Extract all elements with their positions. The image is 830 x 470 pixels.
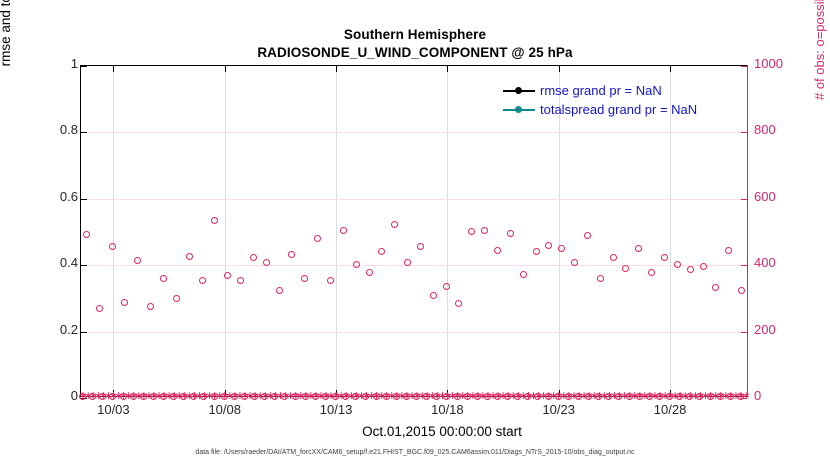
y-axis-tick-label-left: 0 xyxy=(18,388,78,403)
obs-possible-marker xyxy=(610,254,617,261)
filled-circle-marker-icon xyxy=(515,87,522,94)
figure-canvas: Southern Hemisphere RADIOSONDE_U_WIND_CO… xyxy=(0,0,830,470)
obs-possible-marker xyxy=(134,257,141,264)
obs-possible-marker xyxy=(738,287,745,294)
legend-label-totalspread: totalspread grand pr = NaN xyxy=(540,102,697,117)
obs-possible-marker xyxy=(340,227,347,234)
x-axis-tick-top xyxy=(336,66,337,72)
obs-possible-marker xyxy=(430,292,437,299)
left-axis-title: rmse and totalspread xyxy=(0,0,13,118)
obs-possible-marker xyxy=(366,269,373,276)
y-axis-tick-left xyxy=(81,199,87,200)
y-axis-tick-label-right: 0 xyxy=(754,388,814,403)
obs-possible-marker xyxy=(186,253,193,260)
y-gridline xyxy=(81,332,747,333)
legend-item-totalspread[interactable]: totalspread grand pr = NaN xyxy=(503,101,743,120)
legend-line-sample-rmse xyxy=(503,85,535,96)
obs-possible-marker xyxy=(700,263,707,270)
obs-possible-marker xyxy=(507,230,514,237)
y-axis-tick-label-left: 0.4 xyxy=(18,255,78,270)
x-axis-tick-top xyxy=(225,66,226,72)
obs-possible-marker xyxy=(250,254,257,261)
y-axis-tick-label-right: 1000 xyxy=(754,56,814,71)
x-axis-tick-label: 10/28 xyxy=(630,402,710,417)
x-axis-tick-label: 10/13 xyxy=(296,402,376,417)
obs-assimilated-marker: ∗ xyxy=(741,392,749,400)
obs-possible-marker xyxy=(687,266,694,273)
y-axis-tick-left xyxy=(81,132,87,133)
y-axis-tick-left xyxy=(81,66,87,67)
y-axis-tick-label-left: 1 xyxy=(18,56,78,71)
legend-label-rmse: rmse grand pr = NaN xyxy=(540,83,662,98)
obs-possible-marker xyxy=(584,232,591,239)
obs-possible-marker xyxy=(199,277,206,284)
obs-possible-marker xyxy=(468,228,475,235)
obs-possible-marker xyxy=(648,269,655,276)
obs-possible-marker xyxy=(160,275,167,282)
right-axis-spine xyxy=(747,65,748,397)
x-axis-tick-label: 10/23 xyxy=(519,402,599,417)
x-axis-title-text: Oct.01,2015 00:00:00 start xyxy=(308,424,522,439)
x-axis-tick-label: 10/08 xyxy=(185,402,265,417)
x-axis-tick-top xyxy=(447,66,448,72)
y-axis-tick-label-left: 0.2 xyxy=(18,322,78,337)
chart-title-line2: RADIOSONDE_U_WIND_COMPONENT @ 25 hPa xyxy=(0,44,830,62)
obs-possible-marker xyxy=(96,305,103,312)
obs-possible-marker xyxy=(83,231,90,238)
x-gridline xyxy=(447,66,448,396)
obs-possible-marker xyxy=(558,245,565,252)
obs-possible-marker xyxy=(533,248,540,255)
y-gridline xyxy=(81,132,747,133)
obs-possible-marker xyxy=(597,275,604,282)
chart-title: Southern Hemisphere RADIOSONDE_U_WIND_CO… xyxy=(0,26,830,62)
right-axis-title: # of obs: o=possible; ∗=assimilated xyxy=(812,0,828,100)
y-axis-tick-label-right: 200 xyxy=(754,322,814,337)
obs-possible-marker xyxy=(237,277,244,284)
obs-possible-marker xyxy=(481,227,488,234)
obs-possible-marker xyxy=(327,277,334,284)
x-axis-tick-label: 10/18 xyxy=(407,402,487,417)
y-axis-tick-left xyxy=(81,332,87,333)
x-axis-tick-label: 10/03 xyxy=(73,402,153,417)
obs-possible-marker xyxy=(263,259,270,266)
obs-possible-marker xyxy=(455,300,462,307)
x-axis-tick-top xyxy=(559,66,560,72)
legend-item-rmse[interactable]: rmse grand pr = NaN xyxy=(503,82,743,101)
filled-circle-marker-icon xyxy=(515,106,522,113)
x-gridline xyxy=(225,66,226,396)
legend: rmse grand pr = NaN totalspread grand pr… xyxy=(503,82,743,120)
obs-possible-marker xyxy=(520,271,527,278)
obs-possible-marker xyxy=(173,295,180,302)
legend-line-sample-totalspread xyxy=(503,104,535,115)
y-axis-tick-left xyxy=(81,265,87,266)
y-axis-tick-label-right: 400 xyxy=(754,255,814,270)
x-gridline xyxy=(336,66,337,396)
y-axis-tick-label-right: 800 xyxy=(754,122,814,137)
y-axis-tick-label-left: 0.6 xyxy=(18,189,78,204)
x-axis-title: Oct.01,2015 00:00:00 start xyxy=(0,424,830,439)
x-axis-tick-top xyxy=(113,66,114,72)
x-gridline xyxy=(113,66,114,396)
obs-possible-marker xyxy=(443,283,450,290)
obs-possible-marker xyxy=(276,287,283,294)
data-file-footer: data file: /Users/raeder/DAI/ATM_forcXX/… xyxy=(0,449,830,456)
chart-title-line1: Southern Hemisphere xyxy=(0,26,830,44)
y-axis-tick-label-right: 600 xyxy=(754,189,814,204)
y-gridline xyxy=(81,199,747,200)
y-gridline xyxy=(81,265,747,266)
y-axis-tick-label-left: 0.8 xyxy=(18,122,78,137)
x-axis-tick-top xyxy=(670,66,671,72)
